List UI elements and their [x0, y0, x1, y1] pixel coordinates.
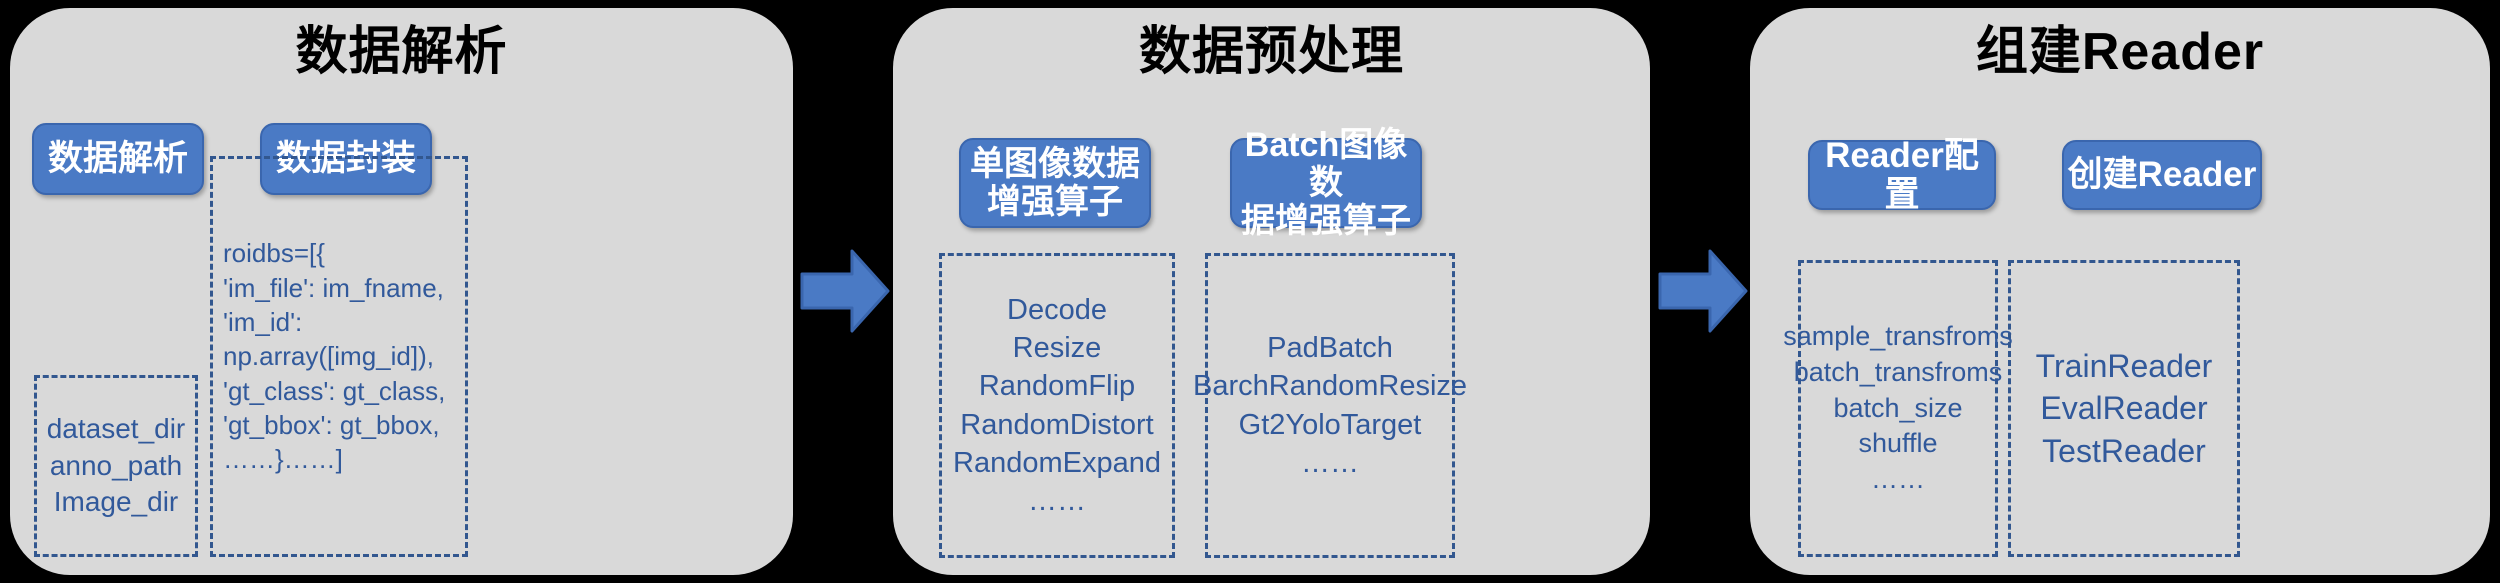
- arrow-stage1-to-stage2: [800, 248, 890, 334]
- button-batch-image-augment-op[interactable]: Batch图像数 据增强算子: [1230, 138, 1422, 228]
- button-create-reader[interactable]: 创建Reader: [2062, 140, 2262, 210]
- stage-panel-data-preprocessing: 数据预处理 单图像数据 增强算子 Batch图像数 据增强算子 Decode R…: [893, 8, 1650, 575]
- stage-title-data-parsing: 数据解析: [10, 24, 793, 81]
- box-roidbs-struct: roidbs=[{ 'im_file': im_fname, 'im_id': …: [210, 156, 468, 557]
- right-arrow-icon: [800, 248, 890, 334]
- diagram-canvas: 数据解析 数据解析 数据封装 dataset_dir anno_path Ima…: [0, 0, 2500, 583]
- box-reader-classes-text: TrainReader EvalReader TestReader: [2036, 345, 2213, 472]
- box-dataset-params-text: dataset_dir anno_path Image_dir: [47, 411, 186, 522]
- stage-title-build-reader: 组建Reader: [1750, 24, 2490, 81]
- button-data-parsing[interactable]: 数据解析: [32, 123, 204, 195]
- box-single-image-ops-text: Decode Resize RandomFlip RandomDistort R…: [953, 291, 1161, 521]
- arrow-stage2-to-stage3: [1658, 248, 1748, 334]
- box-reader-config-params: sample_transfroms batch_transfroms batch…: [1798, 260, 1998, 557]
- button-reader-config[interactable]: Reader配置: [1808, 140, 1996, 210]
- box-batch-image-ops: PadBatch BarchRandomResize Gt2YoloTarget…: [1205, 253, 1455, 558]
- stage-panel-build-reader: 组建Reader Reader配置 创建Reader sample_transf…: [1750, 8, 2490, 575]
- stage-title-data-preprocessing: 数据预处理: [893, 24, 1650, 81]
- box-batch-image-ops-text: PadBatch BarchRandomResize Gt2YoloTarget…: [1193, 329, 1467, 482]
- right-arrow-icon: [1658, 248, 1748, 334]
- box-single-image-ops: Decode Resize RandomFlip RandomDistort R…: [939, 253, 1175, 558]
- box-reader-classes: TrainReader EvalReader TestReader: [2008, 260, 2240, 557]
- box-roidbs-struct-text: roidbs=[{ 'im_file': im_fname, 'im_id': …: [213, 236, 465, 476]
- box-reader-config-params-text: sample_transfroms batch_transfroms batch…: [1783, 319, 2013, 497]
- button-single-image-augment-op[interactable]: 单图像数据 增强算子: [959, 138, 1151, 228]
- stage-panel-data-parsing: 数据解析 数据解析 数据封装 dataset_dir anno_path Ima…: [10, 8, 793, 575]
- box-dataset-params: dataset_dir anno_path Image_dir: [34, 375, 198, 557]
